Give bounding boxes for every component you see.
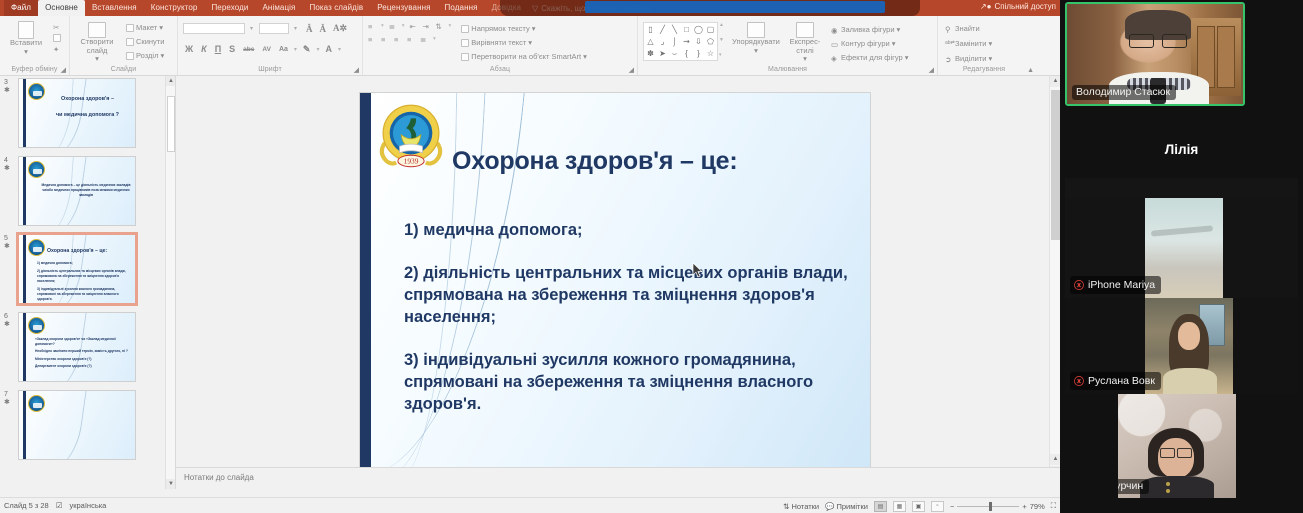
shape-outline-icon: ▭ bbox=[831, 40, 839, 48]
align-left-icon[interactable]: ≡ bbox=[368, 35, 376, 43]
language-indicator[interactable]: українська bbox=[69, 501, 106, 510]
thumbnail-scrollbar[interactable]: ▲ ▼ bbox=[165, 76, 175, 489]
ribbon-tab-strip: Файл Основне Вставлення Конструктор Пере… bbox=[0, 0, 1060, 16]
zoom-meeting-panel: Володимир Стасюк Лілія ⓧ Лілія ⓧ iPhone … bbox=[1060, 0, 1303, 513]
view-slideshow-button[interactable]: ▫ bbox=[931, 501, 944, 512]
section-label: Розділ bbox=[136, 51, 158, 60]
shape-line-icon[interactable]: ╱ bbox=[657, 24, 668, 35]
quick-styles-label: Експрес-стилі bbox=[788, 38, 822, 55]
ribbon-group-paragraph: ≡ ▾ ≣ ▾ ⇤ ⇥ ⇅ ▾ ≡ ≡ ≡ bbox=[363, 16, 638, 75]
ribbon-group-slides-title: Слайди bbox=[75, 66, 172, 75]
font-color-button[interactable]: A bbox=[323, 44, 334, 54]
arrange-button[interactable]: Упорядкувати ▾ bbox=[731, 22, 781, 55]
numbering-icon[interactable]: ≣ bbox=[389, 22, 397, 30]
fit-to-window-icon[interactable]: ⛶ bbox=[1051, 501, 1056, 511]
view-reading-button[interactable]: ▣ bbox=[912, 501, 925, 512]
shape-effects-button[interactable]: ◈ Ефекти для фігур ▾ bbox=[829, 52, 911, 63]
shape-outline-dropdown-icon[interactable]: ▾ bbox=[892, 39, 896, 48]
text-highlight-icon[interactable]: ✎ bbox=[301, 44, 313, 55]
align-right-icon[interactable]: ≡ bbox=[394, 35, 402, 43]
thumbnail-subtitle: чи медична допомога ? bbox=[45, 111, 130, 120]
section-icon bbox=[126, 52, 134, 60]
decor-left-bar bbox=[23, 391, 26, 459]
thumbnail-title: Охорона здоров'я – bbox=[45, 95, 130, 104]
underline-button[interactable]: П bbox=[213, 44, 223, 54]
tab-animations[interactable]: Анімація bbox=[255, 0, 302, 16]
animation-star-icon: ✱ bbox=[4, 243, 18, 251]
animation-star-icon: ✱ bbox=[4, 165, 18, 173]
paste-dropdown-icon[interactable]: ▾ bbox=[24, 48, 28, 57]
participant-name-tag: Володимир Стасюк bbox=[1072, 85, 1176, 100]
shape-brace-left-icon[interactable]: { bbox=[681, 48, 692, 59]
comments-toggle-button[interactable]: 💬 Примітки bbox=[825, 502, 868, 511]
participant-tile-mariya[interactable]: ⓧ iPhone Mariya bbox=[1065, 198, 1298, 298]
participant-glasses bbox=[1160, 448, 1192, 456]
tab-transitions[interactable]: Переходи bbox=[204, 0, 255, 16]
zoom-slider-handle[interactable] bbox=[989, 502, 992, 511]
shape-connector-icon[interactable]: ⌡ bbox=[669, 36, 680, 47]
participant-name: iPhone Mariya bbox=[1088, 279, 1155, 291]
search-icon: ⚲ bbox=[945, 25, 953, 33]
shape-fill-icon: ◉ bbox=[831, 26, 839, 34]
quick-styles-dropdown-icon[interactable]: ▾ bbox=[803, 55, 807, 64]
ribbon-group-paragraph-title: Абзац bbox=[368, 66, 632, 75]
thumbnail-title: Охорона здоров'я – це: bbox=[47, 247, 130, 256]
thumbnail-body-line: Необхідно замінити перший термін, заміст… bbox=[35, 349, 131, 354]
thumbnail-number-6: 6 ✱ bbox=[4, 312, 18, 329]
thumbnail-slide-5[interactable]: Охорона здоров'я – це: 1) медична допомо… bbox=[18, 234, 136, 304]
scroll-thumb[interactable] bbox=[1051, 90, 1060, 240]
section-button[interactable]: Розділ ▾ bbox=[124, 50, 166, 61]
align-center-icon[interactable]: ≡ bbox=[381, 35, 389, 43]
select-icon: ➲ bbox=[945, 55, 953, 63]
slide-counter: Слайд 5 з 28 bbox=[4, 501, 49, 510]
copy-icon[interactable] bbox=[53, 34, 61, 42]
shape-arrow-icon[interactable]: ╲ bbox=[669, 24, 680, 35]
zoom-out-icon[interactable]: − bbox=[950, 502, 954, 511]
shape-gallery[interactable]: ▯ ╱ ╲ □ ◯ ▢ △ ⌟ ⌡ ⇝ ⇩ ⬠ ✽ bbox=[643, 22, 718, 61]
college-logo-icon bbox=[28, 83, 45, 100]
line-spacing-dropdown-icon[interactable]: ▾ bbox=[449, 23, 452, 29]
decor-left-bar bbox=[23, 235, 26, 303]
shape-pentagon-icon[interactable]: ⬠ bbox=[705, 36, 716, 47]
participant-name-tag: Галина Турчин bbox=[1118, 479, 1149, 494]
paragraph-dialog-launcher[interactable]: ◢ bbox=[629, 66, 634, 74]
thumbnail-number-3: 3 ✱ bbox=[4, 78, 18, 95]
quick-styles-icon bbox=[796, 22, 814, 38]
slide-canvas-area[interactable]: 1939 Охорона здоров'я – це: 1) медична д… bbox=[176, 76, 1060, 489]
search-overlay-highlight bbox=[585, 1, 885, 13]
college-logo-icon: 1939 bbox=[370, 97, 452, 179]
previous-slide-icon[interactable]: ▲ bbox=[1050, 454, 1060, 465]
layout-label: Макет bbox=[136, 23, 157, 32]
format-painter-icon[interactable]: ✦ bbox=[53, 45, 61, 53]
shape-effects-label: Ефекти для фігур bbox=[841, 53, 903, 62]
participant-glasses bbox=[1129, 34, 1187, 46]
thumbnail-body: Медична допомога – це діяльність медични… bbox=[41, 183, 131, 198]
participant-body bbox=[1163, 368, 1217, 394]
shape-rect-icon[interactable]: □ bbox=[681, 24, 692, 35]
drawing-dialog-launcher[interactable]: ◢ bbox=[929, 66, 934, 74]
layout-dropdown-icon[interactable]: ▾ bbox=[159, 23, 163, 32]
thumbnail-body-line: 3) індивідуальні зусилля кожного громадя… bbox=[37, 287, 131, 302]
status-bar: Слайд 5 з 28 ☑ українська ⇅ Нотатки 💬 Пр… bbox=[0, 497, 1060, 513]
shape-freeform-icon[interactable]: ✽ bbox=[645, 48, 656, 59]
thumbnail-slide-3[interactable]: Охорона здоров'я – чи медична допомога ? bbox=[18, 78, 136, 148]
thumbnail-number-4: 4 ✱ bbox=[4, 156, 18, 173]
new-slide-button[interactable]: Створити слайд ▾ bbox=[75, 22, 119, 64]
view-slide-sorter-button[interactable]: ▦ bbox=[893, 501, 906, 512]
cut-icon[interactable]: ✂ bbox=[53, 23, 61, 31]
reset-label: Скинути bbox=[136, 37, 164, 46]
share-label: Спільний доступ bbox=[994, 2, 1056, 11]
reset-button[interactable]: Скинути bbox=[124, 36, 166, 47]
text-direction-icon bbox=[461, 25, 469, 33]
list-item[interactable]: 4 ✱ Медична допомога – це діяльність мед… bbox=[0, 152, 175, 230]
college-logo-icon bbox=[28, 317, 45, 334]
scroll-down-icon[interactable]: ▼ bbox=[166, 479, 176, 489]
ribbon-group-font: ▾ ▾ Â Ǎ A✲ Ж К П S abc AV Aa ▾ ✎ bbox=[178, 16, 363, 75]
ribbon: Вставити ▾ ✂ ✦ Буфер обміну ◢ bbox=[0, 16, 1060, 76]
change-case-dropdown-icon[interactable]: ▾ bbox=[294, 46, 297, 53]
tab-slideshow[interactable]: Показ слайдів bbox=[302, 0, 370, 16]
comment-icon: 💬 bbox=[825, 502, 834, 511]
slide-body[interactable]: 1) медична допомога; 2) діяльність центр… bbox=[404, 219, 856, 436]
paste-button[interactable]: Вставити ▾ bbox=[5, 21, 47, 56]
decor-left-bar bbox=[23, 79, 26, 147]
slide-thumbnail-pane[interactable]: 3 ✱ Охорона здоров'я – чи медична допомо… bbox=[0, 76, 176, 489]
reset-icon bbox=[126, 38, 134, 46]
section-dropdown-icon[interactable]: ▾ bbox=[160, 51, 164, 60]
columns-dropdown-icon[interactable]: ▾ bbox=[433, 36, 436, 42]
smartart-icon bbox=[461, 53, 469, 61]
font-name-dropdown-icon[interactable]: ▾ bbox=[250, 25, 253, 32]
new-slide-icon bbox=[88, 22, 106, 38]
thumbnail-body-line: Міністерство охорони здоров'я (?) bbox=[35, 357, 131, 362]
thumbnail-body-line: 1) медична допомога; bbox=[37, 261, 131, 266]
text-direction-button[interactable]: Напрямок тексту ▾ bbox=[459, 23, 589, 34]
shape-textbox-icon[interactable]: ▯ bbox=[645, 24, 656, 35]
bullets-dropdown-icon[interactable]: ▾ bbox=[381, 23, 384, 29]
list-item[interactable]: 3 ✱ Охорона здоров'я – чи медична допомо… bbox=[0, 76, 175, 152]
spellcheck-icon[interactable]: ☑ bbox=[56, 501, 63, 510]
numbering-dropdown-icon[interactable]: ▾ bbox=[402, 23, 405, 29]
ribbon-group-clipboard: Вставити ▾ ✂ ✦ Буфер обміну ◢ bbox=[0, 16, 70, 75]
share-button[interactable]: ↗● Спільний доступ bbox=[980, 2, 1056, 11]
tab-view[interactable]: Подання bbox=[438, 0, 485, 16]
animation-star-icon: ✱ bbox=[4, 321, 18, 329]
muted-microphone-icon: ⓧ bbox=[1074, 373, 1084, 388]
convert-smartart-label: Перетворити на об'єкт SmartArt bbox=[471, 52, 581, 61]
college-logo-icon bbox=[28, 395, 45, 412]
shape-gallery-more-icon[interactable]: ▾ bbox=[719, 52, 724, 58]
current-slide[interactable]: 1939 Охорона здоров'я – це: 1) медична д… bbox=[359, 92, 871, 474]
shape-oval-icon[interactable]: ◯ bbox=[693, 24, 704, 35]
participant-face bbox=[1158, 438, 1194, 478]
zoom-slider[interactable] bbox=[957, 506, 1019, 507]
shape-brace-right-icon[interactable]: } bbox=[693, 48, 704, 59]
select-button[interactable]: ➲ Виділити ▾ bbox=[943, 53, 1025, 64]
scroll-up-icon[interactable]: ▲ bbox=[1050, 76, 1060, 87]
slide-paragraph-1: 1) медична допомога; bbox=[404, 219, 856, 241]
tab-home[interactable]: Основне bbox=[38, 0, 85, 16]
thumbnail-body-line: «Заклад охорони здоров'я» чи «Заклад мед… bbox=[35, 337, 131, 346]
scroll-up-icon[interactable]: ▲ bbox=[166, 76, 176, 86]
shape-roundrect-icon[interactable]: ▢ bbox=[705, 24, 716, 35]
shape-arrow-right-icon[interactable]: ⇝ bbox=[681, 36, 692, 47]
muted-microphone-icon: ⓧ bbox=[1074, 277, 1084, 292]
scroll-thumb[interactable] bbox=[167, 96, 175, 152]
strikethrough-button[interactable]: abc bbox=[241, 46, 256, 53]
thumbnail-slide-4[interactable]: Медична допомога – це діяльність медични… bbox=[18, 156, 136, 226]
tab-review[interactable]: Рецензування bbox=[370, 0, 437, 16]
list-item[interactable]: 7 ✱ bbox=[0, 386, 175, 464]
view-normal-button[interactable]: ▤ bbox=[874, 501, 887, 512]
notes-pane[interactable]: Нотатки до слайда bbox=[176, 467, 1060, 489]
ribbon-group-editing-title: Редагування bbox=[943, 66, 1025, 75]
align-text-dropdown-icon[interactable]: ▾ bbox=[528, 38, 532, 47]
change-case-button[interactable]: Aa bbox=[277, 46, 290, 53]
slide-paragraph-2: 2) діяльність центральних та місцевих ор… bbox=[404, 262, 856, 328]
shape-curve-icon[interactable]: ➤ bbox=[657, 48, 668, 59]
college-logo-icon bbox=[28, 239, 45, 256]
panel-section-heading: Лілія bbox=[1060, 142, 1303, 157]
participant-face bbox=[1178, 322, 1200, 350]
select-dropdown-icon[interactable]: ▾ bbox=[988, 54, 992, 63]
zoom-in-icon[interactable]: + bbox=[1022, 502, 1026, 511]
thumbnail-slide-7[interactable] bbox=[18, 390, 136, 460]
animation-star-icon: ✱ bbox=[4, 87, 18, 95]
participant-buttons bbox=[1166, 482, 1186, 494]
replace-icon: ab⇄ bbox=[945, 40, 953, 48]
participant-name: Володимир Стасюк bbox=[1076, 86, 1170, 98]
tab-insert[interactable]: Вставлення bbox=[85, 0, 144, 16]
justify-icon[interactable]: ≡ bbox=[407, 35, 415, 43]
text-direction-dropdown-icon[interactable]: ▾ bbox=[532, 24, 536, 33]
replace-dropdown-icon[interactable]: ▾ bbox=[988, 39, 992, 48]
shape-arc-icon[interactable]: ⌣ bbox=[669, 48, 680, 59]
smartart-dropdown-icon[interactable]: ▾ bbox=[583, 52, 587, 61]
shadow-button[interactable]: S bbox=[227, 44, 237, 54]
ribbon-group-slides: Створити слайд ▾ Макет ▾ Скинути bbox=[70, 16, 178, 75]
replace-label: Замінити bbox=[955, 39, 986, 48]
shape-gallery-down-icon[interactable]: ▼ bbox=[719, 37, 724, 43]
shape-star-icon[interactable]: ☆ bbox=[705, 48, 716, 59]
arrange-dropdown-icon[interactable]: ▾ bbox=[754, 47, 758, 56]
find-button[interactable]: ⚲ Знайти bbox=[943, 23, 1025, 34]
shape-gallery-up-icon[interactable]: ▲ bbox=[719, 22, 724, 28]
collapse-ribbon-button[interactable]: ▲ bbox=[1027, 67, 1034, 74]
participant-name-tag: ⓧ Руслана Вовк bbox=[1070, 372, 1161, 390]
list-item[interactable]: 5 ✱ Охорона здоров'я – це: 1) медична до… bbox=[0, 230, 175, 308]
share-icon: ↗● bbox=[980, 2, 992, 11]
increase-indent-icon[interactable]: ⇥ bbox=[423, 22, 431, 30]
paste-icon bbox=[18, 21, 34, 39]
participant-tile-ruslana[interactable]: ⓧ Руслана Вовк bbox=[1065, 298, 1298, 394]
select-label: Виділити bbox=[955, 54, 986, 63]
arrange-icon bbox=[747, 22, 765, 38]
notes-icon: ⇅ bbox=[783, 502, 789, 511]
powerpoint-window: Файл Основне Вставлення Конструктор Пере… bbox=[0, 0, 1060, 513]
shape-fill-label: Заливка фігури bbox=[841, 25, 895, 34]
participant-tile-active-speaker[interactable]: Володимир Стасюк bbox=[1065, 2, 1245, 106]
bullets-icon[interactable]: ≡ bbox=[368, 22, 376, 30]
convert-smartart-button[interactable]: Перетворити на об'єкт SmartArt ▾ bbox=[459, 51, 589, 62]
find-label: Знайти bbox=[955, 24, 980, 33]
participant-tile-galyna[interactable]: Галина Турчин bbox=[1118, 394, 1236, 498]
font-name-input[interactable] bbox=[183, 23, 245, 34]
animation-star-icon: ✱ bbox=[4, 399, 18, 407]
shape-effects-icon: ◈ bbox=[831, 54, 839, 62]
decrease-indent-icon[interactable]: ⇤ bbox=[410, 22, 418, 30]
layout-button[interactable]: Макет ▾ bbox=[124, 22, 166, 33]
zoom-control[interactable]: − + 79% bbox=[950, 502, 1045, 511]
participant-name: Галина Турчин bbox=[1118, 480, 1143, 492]
tab-file[interactable]: Файл bbox=[4, 0, 38, 16]
new-slide-dropdown-icon[interactable]: ▾ bbox=[95, 55, 99, 64]
thumbnail-slide-6[interactable]: «Заклад охорони здоров'я» чи «Заклад мед… bbox=[18, 312, 136, 382]
italic-button[interactable]: К bbox=[199, 44, 209, 54]
slide-title[interactable]: Охорона здоров'я – це: bbox=[452, 147, 856, 176]
thumbnail-number-7: 7 ✱ bbox=[4, 390, 18, 407]
new-slide-label: Створити слайд bbox=[75, 38, 119, 55]
align-text-button[interactable]: Вирівняти текст ▾ bbox=[459, 37, 589, 48]
ribbon-group-clipboard-title: Буфер обміну bbox=[5, 66, 64, 75]
ribbon-group-drawing-title: Малювання bbox=[643, 66, 932, 75]
thumbnail-body-line: Департамент охорони здоров'я (?) bbox=[35, 364, 131, 369]
bold-button[interactable]: Ж bbox=[183, 44, 195, 54]
shape-fill-button[interactable]: ◉ Заливка фігури ▾ bbox=[829, 24, 911, 35]
participant-name: Руслана Вовк bbox=[1088, 375, 1155, 387]
clipboard-dialog-launcher[interactable]: ◢ bbox=[61, 66, 66, 74]
college-logo-icon bbox=[28, 161, 45, 178]
list-item[interactable]: 6 ✱ «Заклад охорони здоров'я» чи «Заклад… bbox=[0, 308, 175, 386]
ribbon-group-editing: ⚲ Знайти ab⇄ Замінити ▾ ➲ Виділити ▾ Ред… bbox=[938, 16, 1030, 75]
decrease-font-size-icon[interactable]: Ǎ bbox=[318, 24, 329, 34]
highlight-dropdown-icon[interactable]: ▾ bbox=[316, 46, 319, 53]
replace-button[interactable]: ab⇄ Замінити ▾ bbox=[943, 38, 1025, 49]
decor-left-bar bbox=[23, 313, 26, 381]
thumbnail-number-5: 5 ✱ bbox=[4, 234, 18, 251]
shape-triangle-icon[interactable]: △ bbox=[645, 36, 656, 47]
slide-scrollbar[interactable]: ▲ ▲ ▼ ▼ bbox=[1049, 76, 1060, 489]
font-size-input[interactable] bbox=[259, 23, 289, 34]
clear-formatting-icon[interactable]: A✲ bbox=[331, 23, 349, 34]
text-direction-label: Напрямок тексту bbox=[471, 24, 529, 33]
align-text-label: Вирівняти текст bbox=[471, 38, 526, 47]
ribbon-group-font-title: Шрифт bbox=[183, 66, 357, 75]
work-area: 3 ✱ Охорона здоров'я – чи медична допомо… bbox=[0, 76, 1060, 489]
shape-effects-dropdown-icon[interactable]: ▾ bbox=[905, 53, 909, 62]
zoom-level-label[interactable]: 79% bbox=[1030, 502, 1045, 511]
notes-toggle-label: Нотатки bbox=[791, 502, 819, 511]
svg-text:1939: 1939 bbox=[404, 156, 419, 165]
notes-toggle-button[interactable]: ⇅ Нотатки bbox=[783, 502, 819, 511]
ribbon-group-drawing: ▯ ╱ ╲ □ ◯ ▢ △ ⌟ ⌡ ⇝ ⇩ ⬠ ✽ bbox=[638, 16, 938, 75]
shape-arrow-down-icon[interactable]: ⇩ bbox=[693, 36, 704, 47]
tab-design[interactable]: Конструктор bbox=[144, 0, 205, 16]
align-text-icon bbox=[461, 39, 469, 47]
font-size-dropdown-icon[interactable]: ▾ bbox=[294, 25, 297, 32]
font-dialog-launcher[interactable]: ◢ bbox=[354, 66, 359, 74]
increase-font-size-icon[interactable]: Â bbox=[304, 24, 315, 34]
layout-icon bbox=[126, 24, 134, 32]
comments-toggle-label: Примітки bbox=[836, 502, 867, 511]
shape-elbow-icon[interactable]: ⌟ bbox=[657, 36, 668, 47]
line-spacing-icon[interactable]: ⇅ bbox=[436, 22, 444, 30]
participant-name-tag: ⓧ iPhone Mariya bbox=[1070, 276, 1161, 294]
shape-outline-button[interactable]: ▭ Контур фігури ▾ bbox=[829, 38, 911, 49]
columns-icon[interactable]: ≣ bbox=[420, 35, 428, 43]
decor-left-bar bbox=[23, 157, 26, 225]
notes-placeholder: Нотатки до слайда bbox=[184, 473, 254, 482]
quick-styles-button[interactable]: Експрес-стилі ▾ bbox=[788, 22, 822, 64]
character-spacing-button[interactable]: AV bbox=[260, 46, 273, 53]
slide-paragraph-3: 3) індивідуальні зусилля кожного громадя… bbox=[404, 349, 856, 415]
shape-fill-dropdown-icon[interactable]: ▾ bbox=[897, 25, 901, 34]
font-color-dropdown-icon[interactable]: ▾ bbox=[338, 46, 341, 53]
screenshot-root: Файл Основне Вставлення Конструктор Пере… bbox=[0, 0, 1303, 513]
shape-outline-label: Контур фігури bbox=[841, 39, 890, 48]
thumbnail-body-line: 2) діяльність центральних та місцевих ор… bbox=[37, 269, 131, 284]
